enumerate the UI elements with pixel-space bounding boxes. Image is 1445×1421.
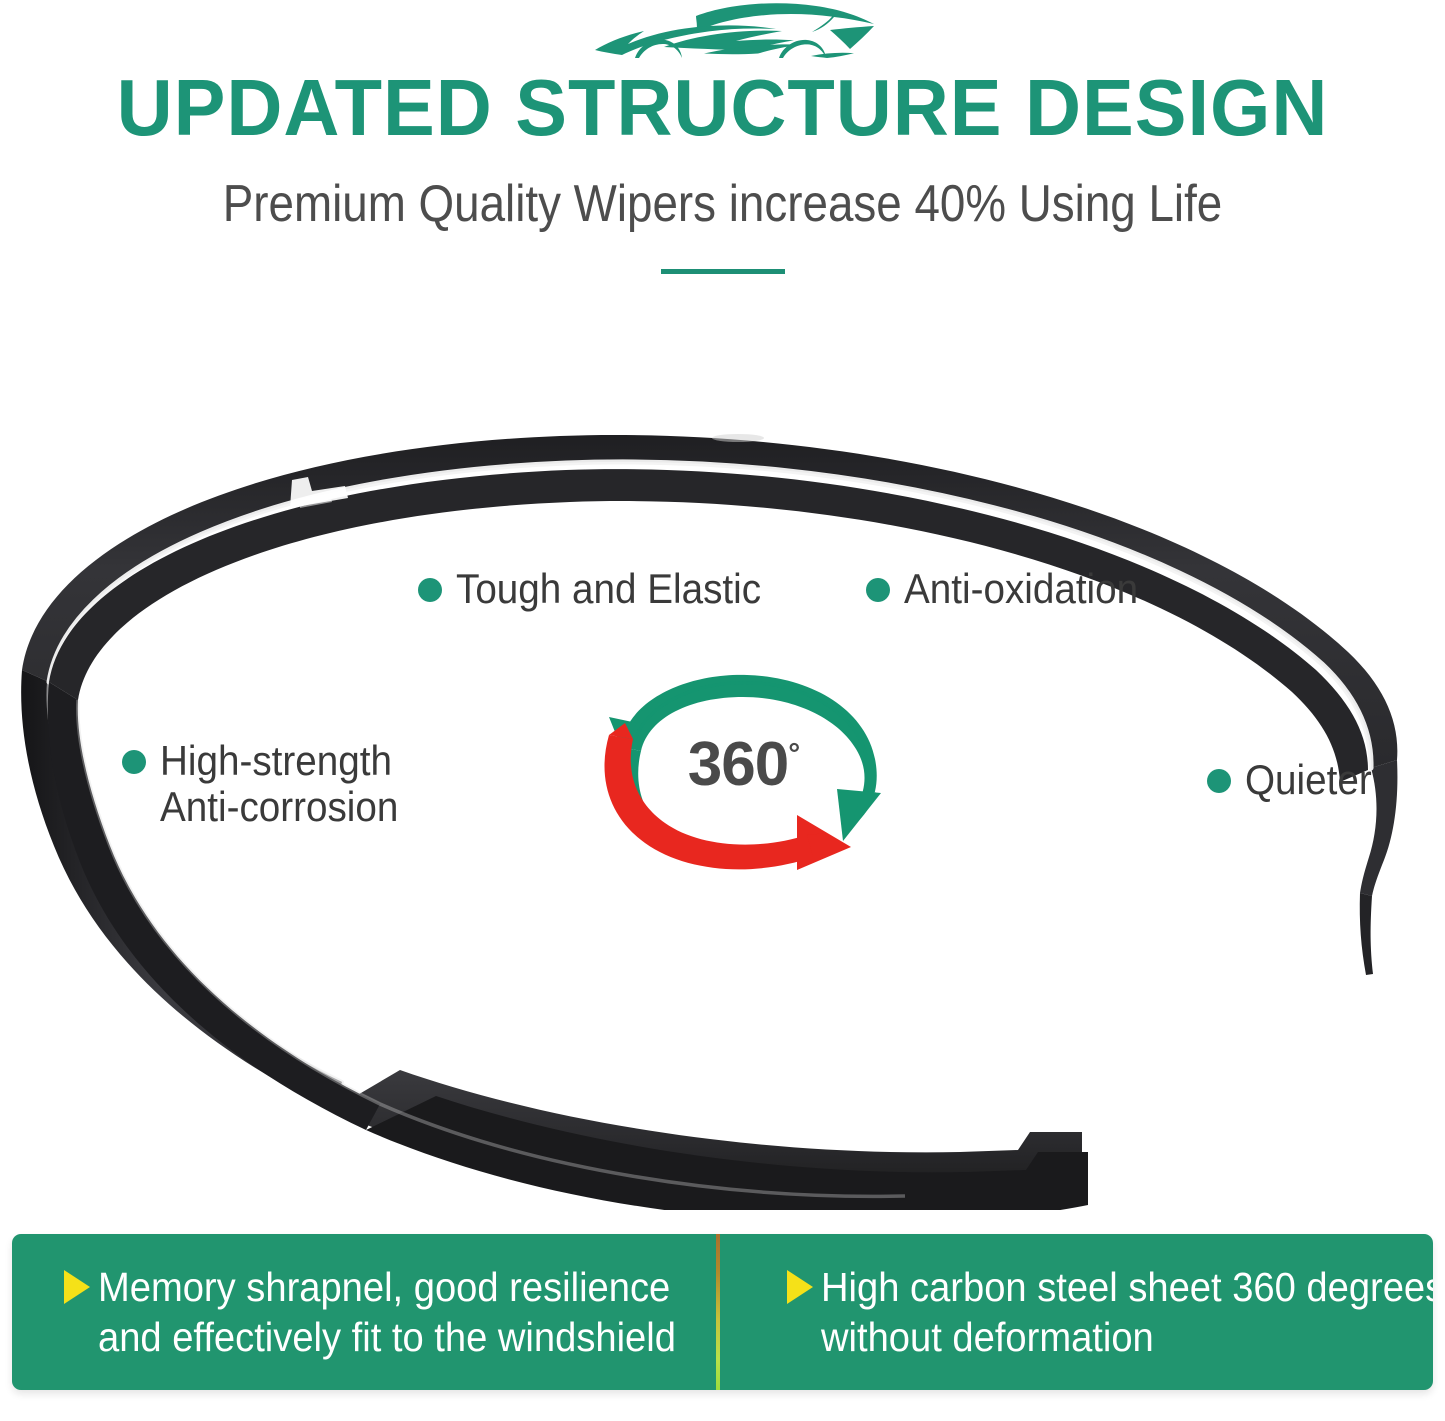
banner-text-line1: High carbon steel sheet 360 degrees bbox=[821, 1262, 1433, 1312]
feature-callout-high-strength: High-strength Anti-corrosion bbox=[122, 738, 419, 830]
feature-callout-anti-oxidation: Anti-oxidation bbox=[866, 566, 1158, 612]
feature-callout-quieter: Quieter bbox=[1207, 757, 1383, 803]
feature-label-high-strength: High-strength bbox=[160, 738, 398, 784]
feature-label-quieter: Quieter bbox=[1245, 757, 1372, 803]
triangle-bullet-icon bbox=[64, 1270, 90, 1304]
feature-callout-tough-and-elastic: Tough and Elastic bbox=[418, 566, 788, 612]
bullet-dot-icon bbox=[122, 750, 146, 774]
banner-text-line2: and effectively fit to the windshield bbox=[98, 1312, 676, 1362]
banner-divider bbox=[716, 1234, 720, 1390]
bullet-dot-icon bbox=[1207, 769, 1231, 793]
title-divider bbox=[661, 269, 785, 274]
banner-item-high-carbon-steel: High carbon steel sheet 360 degrees with… bbox=[719, 1234, 1433, 1390]
page-title: UPDATED STRUCTURE DESIGN bbox=[22, 60, 1424, 156]
feature-label-anti-oxidation: Anti-oxidation bbox=[904, 566, 1138, 612]
bottom-feature-banner: Memory shrapnel, good resilience and eff… bbox=[12, 1234, 1433, 1390]
banner-item-memory-shrapnel: Memory shrapnel, good resilience and eff… bbox=[12, 1234, 719, 1390]
banner-text-line2: without deformation bbox=[821, 1312, 1433, 1362]
car-silhouette-icon bbox=[578, 2, 878, 64]
banner-text-line1: Memory shrapnel, good resilience bbox=[98, 1262, 676, 1312]
page-subtitle: Premium Quality Wipers increase 40% Usin… bbox=[87, 172, 1359, 236]
product-infographic-page: UPDATED STRUCTURE DESIGN Premium Quality… bbox=[0, 0, 1445, 1421]
bullet-dot-icon bbox=[418, 578, 442, 602]
feature-label-tough-and-elastic: Tough and Elastic bbox=[456, 566, 761, 612]
feature-label-anti-corrosion: Anti-corrosion bbox=[160, 784, 398, 830]
rotation-360-badge: 360° bbox=[575, 655, 920, 870]
bullet-dot-icon bbox=[866, 578, 890, 602]
triangle-bullet-icon bbox=[787, 1270, 813, 1304]
